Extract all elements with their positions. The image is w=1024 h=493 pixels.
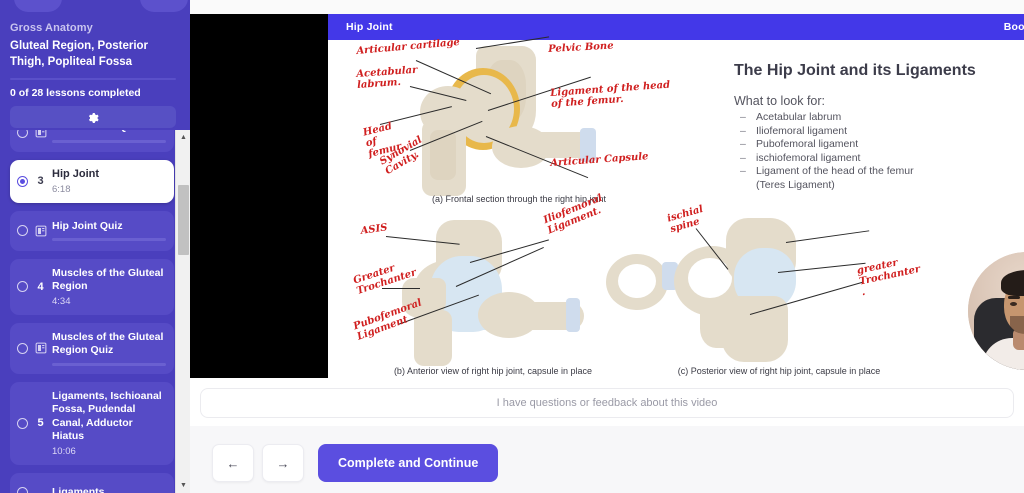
course-subject: Gross Anatomy (10, 20, 180, 36)
figure-b-caption: (b) Anterior view of right hip joint, ca… (348, 366, 638, 376)
slide-brand: Bootcamp.com (1004, 21, 1024, 33)
list-item[interactable]: Muscles of the Gluteal Region Quiz (10, 323, 174, 374)
lesson-title: Ligaments, Ischioanal Fossa, Pudendal Ca… (52, 390, 166, 444)
quiz-icon (34, 130, 47, 139)
next-lesson-button[interactable]: → (262, 444, 304, 482)
completion-radio-icon[interactable] (17, 343, 28, 354)
bullet-dash: – (734, 138, 756, 152)
bullet-text: Acetabular labrum (756, 111, 984, 125)
slide-bullet-list: – Acetabular labrum – Iliofemoral ligame… (734, 111, 984, 192)
slide-right-panel: The Hip Joint and its Ligaments What to … (734, 60, 984, 192)
course-player-page: Gross Anatomy Gluteal Region, Posterior … (0, 0, 1024, 493)
annotation-acetabular-labrum: Acetabular labrum. (356, 65, 419, 91)
header-divider (10, 78, 176, 80)
nav-pill-left[interactable] (14, 0, 62, 12)
previous-lesson-button[interactable]: ← (212, 444, 254, 482)
course-header: Gross Anatomy Gluteal Region, Posterior … (0, 16, 190, 128)
gear-icon (87, 111, 99, 123)
feedback-placeholder: I have questions or feedback about this … (497, 397, 718, 409)
bullet-text: Ligament of the head of the femur (756, 165, 984, 179)
feedback-input[interactable]: I have questions or feedback about this … (200, 388, 1014, 418)
annotation-ischial-spine: ischial spine (666, 204, 708, 235)
list-item[interactable]: Hip Joint Quiz (10, 211, 174, 251)
lesson-title: Muscles of the Gluteal Region (52, 267, 166, 294)
list-item: – ischiofemoral ligament (734, 152, 984, 166)
list-item[interactable]: 4 Muscles of the Gluteal Region 4:34 (10, 259, 174, 315)
scroll-down-arrow-icon[interactable]: ▼ (176, 478, 190, 493)
scroll-up-arrow-icon[interactable]: ▲ (176, 130, 190, 145)
slide-title: Hip Joint (346, 21, 393, 33)
figure-c-posterior-view: ischial spine greater Trochanter . (c) P… (600, 218, 860, 368)
bullet-text: Pubofemoral ligament (756, 138, 984, 152)
list-item: – Acetabular labrum (734, 111, 984, 125)
course-title: Gluteal Region, Posterior Thigh, Poplite… (10, 38, 180, 70)
completion-radio-icon[interactable] (17, 130, 28, 138)
figure-a-frontal-section: Articular cartilage Acetabular labrum. H… (358, 46, 678, 196)
sidebar-scrollbar[interactable]: ▲ ▼ (175, 130, 190, 493)
quiz-icon (34, 342, 47, 355)
figure-c-caption: (c) Posterior view of right hip joint, c… (634, 366, 924, 376)
arrow-right-icon: → (277, 456, 290, 471)
nav-pill-right[interactable] (140, 0, 188, 12)
complete-and-continue-button[interactable]: Complete and Continue (318, 444, 498, 482)
lesson-duration: 6:18 (52, 184, 166, 195)
list-item[interactable]: Pelvic Girdle Quiz (10, 130, 174, 152)
lesson-title: Hip Joint (52, 168, 166, 182)
list-item: – Ligament of the head of the femur (734, 165, 984, 179)
lesson-list[interactable]: Pelvic Girdle Quiz 3 Hip Joint 6:18 Hi (0, 130, 176, 493)
lesson-number: 3 (34, 175, 47, 187)
lesson-title: Pelvic Girdle Quiz (52, 130, 166, 135)
completion-radio-icon[interactable] (17, 418, 28, 429)
bullet-dash: – (734, 111, 756, 125)
bullet-text: Iliofemoral ligament (756, 125, 984, 139)
lesson-duration: 4:34 (52, 296, 166, 307)
arrow-left-icon: ← (227, 456, 240, 471)
sidebar-top-nav-stubs (0, 0, 190, 16)
lesson-title: Muscles of the Gluteal Region Quiz (52, 331, 166, 358)
annotation-asis: ASIS (360, 222, 388, 237)
obturator-ring-b (478, 292, 540, 338)
scrollbar-thumb[interactable] (178, 185, 189, 255)
leader-line (786, 230, 869, 243)
lesson-progress-bar (52, 238, 166, 241)
bullet-dash: – (734, 165, 756, 179)
list-item[interactable]: Ligaments, (10, 473, 174, 493)
lesson-progress-bar (52, 363, 166, 366)
lesson-title: Ligaments, (52, 486, 166, 493)
list-item-active[interactable]: 3 Hip Joint 6:18 (10, 160, 174, 203)
quiz-icon (34, 224, 47, 237)
figure-a-caption: (a) Frontal section through the right hi… (394, 194, 644, 204)
annotation-pelvic-bone: Pelvic Bone (548, 41, 614, 55)
top-spacer (190, 0, 1024, 14)
slide-lead-text: What to look for: (734, 94, 984, 108)
progress-text: 0 of 28 lessons completed (10, 87, 180, 99)
lesson-number: 4 (34, 281, 47, 293)
complete-and-continue-label: Complete and Continue (338, 456, 478, 470)
slide-heading: The Hip Joint and its Ligaments (734, 60, 984, 81)
lesson-duration: 10:06 (52, 446, 166, 457)
figure-b-anterior-view: ASIS Greater Trochanter Pubofemoral Liga… (352, 218, 632, 368)
ischial-tuberosity-c (700, 300, 740, 348)
bullet-dash: – (734, 125, 756, 139)
video-slide: Hip Joint Bootcamp.com (328, 14, 1024, 378)
slide-body: Articular cartilage Acetabular labrum. H… (328, 40, 1024, 378)
list-item: – Pubofemoral ligament (734, 138, 984, 152)
ischium-ring-left-inner (618, 264, 656, 298)
bullet-subnote: (Teres Ligament) (756, 179, 984, 193)
obturator-ring (492, 126, 550, 168)
completion-radio-icon[interactable] (17, 176, 28, 187)
feedback-zone: I have questions or feedback about this … (190, 378, 1024, 426)
eye-left (1010, 302, 1017, 306)
completion-radio-icon[interactable] (17, 281, 28, 292)
bullet-text: ischiofemoral ligament (756, 152, 984, 166)
bullet-dash: – (734, 152, 756, 166)
lesson-progress-bar (52, 140, 166, 143)
settings-button[interactable] (10, 106, 176, 128)
action-bar: ← → Complete and Continue (190, 426, 1024, 493)
list-item[interactable]: 5 Ligaments, Ischioanal Fossa, Pudendal … (10, 382, 174, 465)
main-content: Hip Joint Bootcamp.com (190, 0, 1024, 493)
completion-radio-icon[interactable] (17, 225, 28, 236)
video-player[interactable]: Hip Joint Bootcamp.com (190, 14, 1024, 378)
annotation-greater-trochanter-c: greater Trochanter . (856, 253, 924, 298)
lesson-title: Hip Joint Quiz (52, 220, 166, 234)
completion-radio-icon[interactable] (17, 487, 28, 493)
annotation-articular-cartilage: Articular cartilage (356, 37, 460, 57)
eyebrow-left (1008, 296, 1020, 299)
presenter-webcam-avatar (968, 252, 1024, 370)
list-item: – Iliofemoral ligament (734, 125, 984, 139)
sidebar: Gross Anatomy Gluteal Region, Posterior … (0, 0, 190, 493)
symphysis-b (566, 298, 580, 332)
leader-line (382, 288, 420, 289)
lesson-number: 5 (34, 417, 47, 429)
slide-header-bar: Hip Joint Bootcamp.com (328, 14, 1024, 40)
